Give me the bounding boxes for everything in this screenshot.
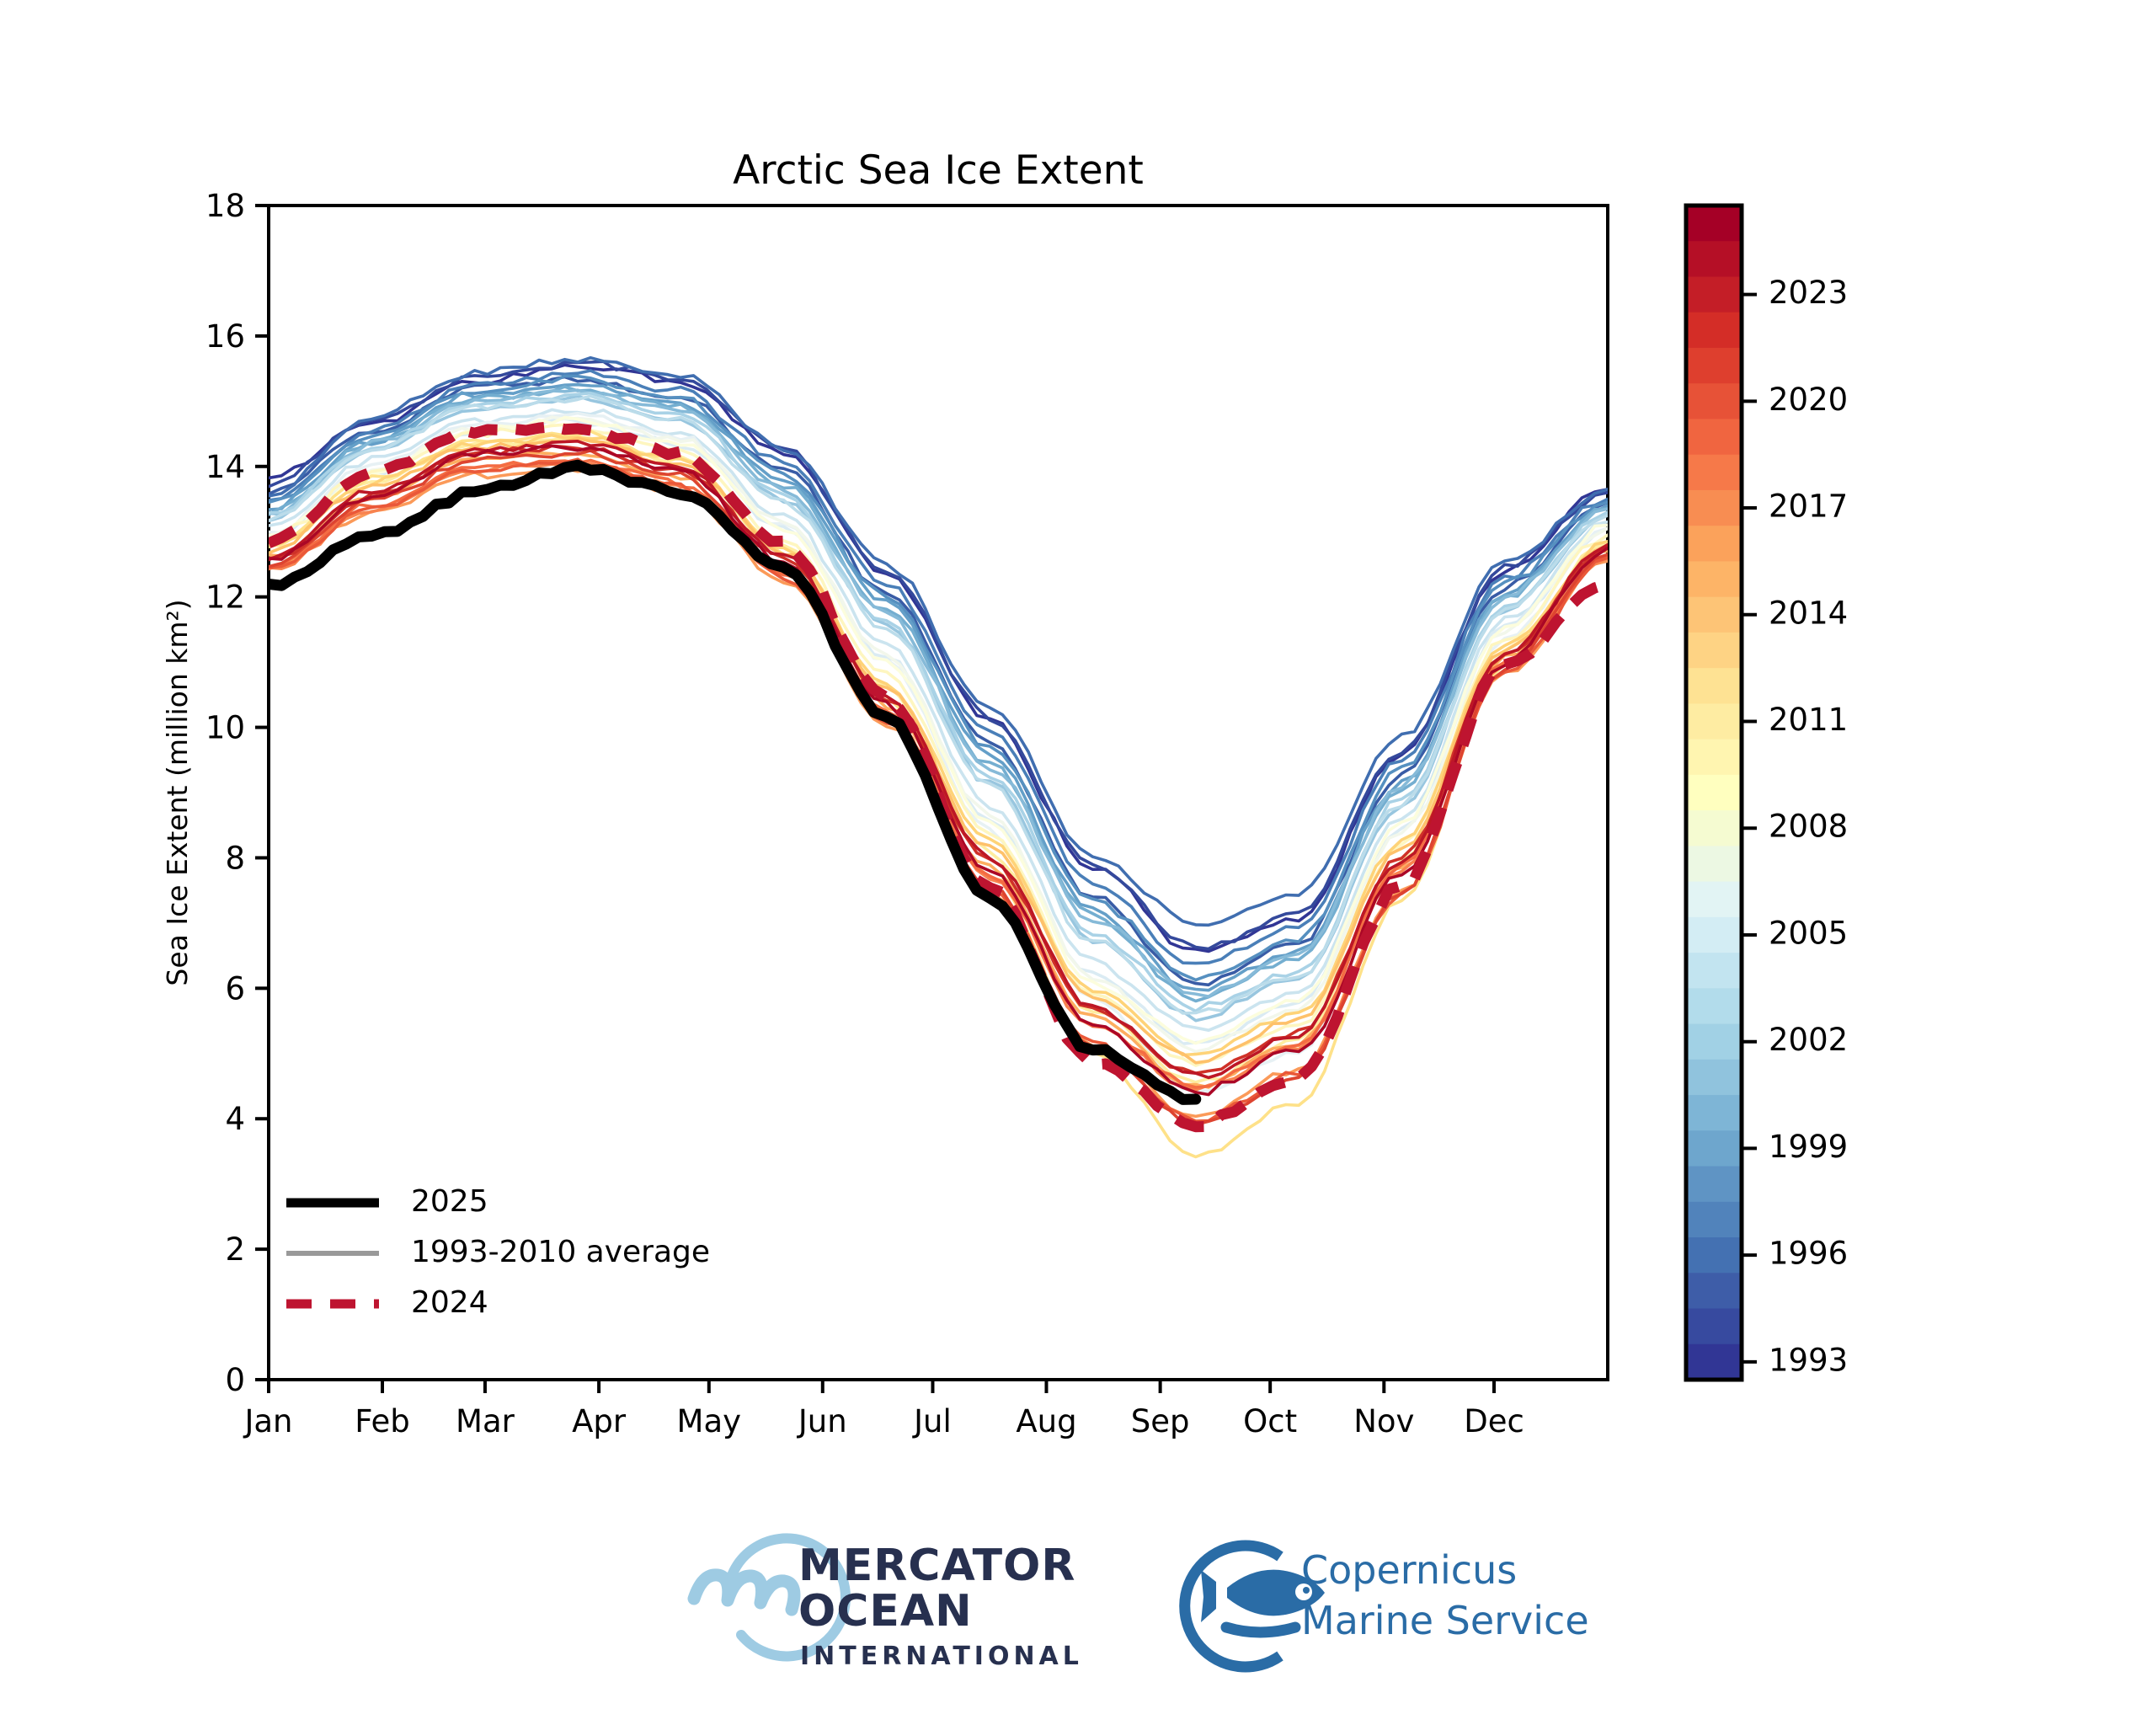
colorbar-band: [1686, 1095, 1742, 1131]
colorbar-tick-label: 1999: [1769, 1129, 1848, 1165]
colorbar-band: [1686, 561, 1742, 597]
y-tick-label: 6: [225, 970, 245, 1007]
x-tick-label: Jul: [912, 1403, 952, 1439]
colorbar-band: [1686, 490, 1742, 526]
colorbar-tick-label: 1993: [1769, 1342, 1848, 1378]
colorbar-band: [1686, 1060, 1742, 1096]
x-tick-label: Oct: [1243, 1403, 1297, 1439]
x-tick-label: Feb: [355, 1403, 410, 1439]
colorbar-band: [1686, 455, 1742, 491]
colorbar-tick-label: 1996: [1769, 1236, 1848, 1272]
colorbar-band: [1686, 1273, 1742, 1309]
colorbar-band: [1686, 1309, 1742, 1345]
colorbar-band: [1686, 383, 1742, 419]
colorbar-tick-label: 2017: [1769, 489, 1848, 525]
mercator-line-1: MERCATOR: [798, 1541, 1075, 1591]
x-tick-label: Jan: [243, 1403, 292, 1439]
colorbar-tick-label: 2011: [1769, 702, 1848, 738]
colorbar-band: [1686, 810, 1742, 846]
colorbar-band: [1686, 526, 1742, 562]
colorbar-band: [1686, 312, 1742, 349]
colorbar-tick-label: 2008: [1769, 809, 1848, 845]
colorbar-band: [1686, 917, 1742, 953]
chart-title: Arctic Sea Ice Extent: [733, 147, 1144, 194]
mercator-ocean-logo: MERCATOR OCEAN INTERNATIONAL: [694, 1538, 1083, 1671]
colorbar-band: [1686, 988, 1742, 1024]
colorbar-band: [1686, 633, 1742, 669]
y-tick-label: 8: [225, 840, 245, 876]
colorbar-tick-label: 2020: [1769, 382, 1848, 418]
colorbar-band: [1686, 740, 1742, 776]
colorbar-tick-label: 2002: [1769, 1022, 1848, 1058]
x-tick-label: Dec: [1464, 1403, 1524, 1439]
legend-label-2: 1993-2010 average: [411, 1235, 710, 1269]
x-tick-label: Nov: [1353, 1403, 1414, 1439]
copernicus-line-1: Copernicus: [1301, 1547, 1517, 1593]
y-tick-label: 16: [205, 318, 245, 355]
copernicus-marine-logo: Copernicus Marine Service: [1185, 1546, 1589, 1667]
colorbar-band: [1686, 1344, 1742, 1381]
colorbar-band: [1686, 775, 1742, 811]
figure-root: Arctic Sea Ice Extent Sea Ice Extent (mi…: [0, 0, 2156, 1725]
mercator-line-2: OCEAN: [798, 1586, 973, 1637]
colorbar-band: [1686, 1237, 1742, 1274]
colorbar-band: [1686, 276, 1742, 312]
colorbar-band: [1686, 1130, 1742, 1167]
x-tick-label: Mar: [456, 1403, 515, 1439]
mercator-line-3: INTERNATIONAL: [800, 1642, 1083, 1671]
colorbar-band: [1686, 348, 1742, 384]
x-tick-label: May: [677, 1403, 742, 1439]
x-tick-label: Jun: [797, 1403, 847, 1439]
y-tick-label: 10: [205, 710, 245, 746]
colorbar-band: [1686, 1167, 1742, 1203]
colorbar-band: [1686, 206, 1742, 242]
copernicus-line-2: Marine Service: [1301, 1598, 1589, 1643]
x-tick-label: Apr: [572, 1403, 627, 1439]
colorbar-band: [1686, 1202, 1742, 1238]
chart-svg: Arctic Sea Ice Extent Sea Ice Extent (mi…: [0, 0, 2156, 1725]
y-tick-label: 18: [205, 188, 245, 224]
legend-label-3: 2024: [411, 1285, 488, 1320]
y-axis-label: Sea Ice Extent (million km²): [161, 599, 194, 985]
colorbar-tick-label: 2005: [1769, 915, 1848, 951]
colorbar-tick-label: 2014: [1769, 595, 1848, 631]
y-axis-ticks: 024681012141618: [205, 188, 269, 1398]
colorbar-tick-label: 2023: [1769, 275, 1848, 311]
colorbar-band: [1686, 953, 1742, 989]
colorbar-band: [1686, 241, 1742, 277]
colorbar-band: [1686, 703, 1742, 740]
colorbar-band: [1686, 846, 1742, 882]
legend-label-1: 2025: [411, 1184, 488, 1219]
colorbar-band: [1686, 882, 1742, 918]
y-tick-label: 4: [225, 1101, 245, 1137]
x-axis-ticks: JanFebMarAprMayJunJulAugSepOctNovDec: [243, 1380, 1524, 1439]
y-tick-label: 2: [225, 1231, 245, 1268]
colorbar-band: [1686, 668, 1742, 704]
x-tick-label: Sep: [1131, 1403, 1190, 1439]
colorbar-band: [1686, 1024, 1742, 1060]
colorbar-band: [1686, 419, 1742, 455]
x-tick-label: Aug: [1016, 1403, 1076, 1439]
y-tick-label: 12: [205, 579, 245, 616]
y-tick-label: 0: [225, 1362, 245, 1398]
colorbar-band: [1686, 597, 1742, 633]
colorbar[interactable]: 1993199619992002200520082011201420172020…: [1686, 206, 1848, 1381]
y-tick-label: 14: [205, 449, 245, 485]
